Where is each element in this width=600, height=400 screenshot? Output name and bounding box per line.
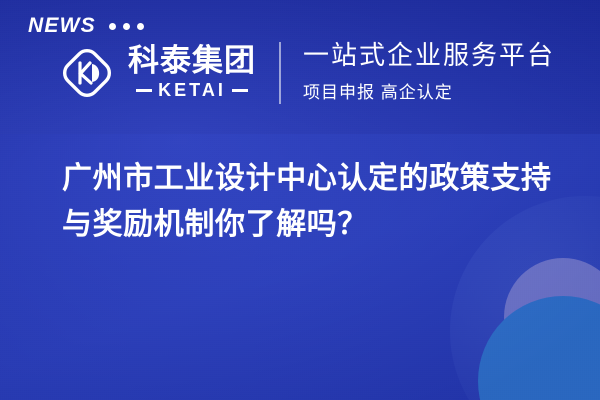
news-dots-icon — [109, 23, 144, 30]
slogan-sub: 项目申报 高企认定 — [303, 78, 555, 103]
header-divider — [279, 42, 281, 104]
brand-name-en-row: KETAI — [136, 80, 248, 101]
brand-rule-right — [232, 89, 248, 92]
news-label: NEWS — [28, 14, 96, 38]
ketai-kd-monogram-icon — [56, 42, 118, 104]
news-banner: NEWS 科泰集团 KETAI — [0, 0, 600, 400]
headline-title: 广州市工业设计中心认定的政策支持与奖励机制你了解吗？ — [62, 156, 560, 247]
brand-words: 科泰集团 KETAI — [128, 45, 256, 102]
dot-icon — [109, 23, 116, 30]
brand-name-en: KETAI — [158, 80, 226, 101]
news-strip: NEWS — [28, 14, 144, 38]
slogan-block: 一站式企业服务平台 项目申报 高企认定 — [303, 40, 555, 103]
slogan-main: 一站式企业服务平台 — [303, 40, 555, 71]
brand-lockup: 科泰集团 KETAI — [56, 42, 256, 104]
brand-name-cn: 科泰集团 — [128, 45, 256, 78]
brand-rule-left — [136, 89, 152, 92]
dot-icon — [123, 23, 130, 30]
dot-icon — [137, 23, 144, 30]
